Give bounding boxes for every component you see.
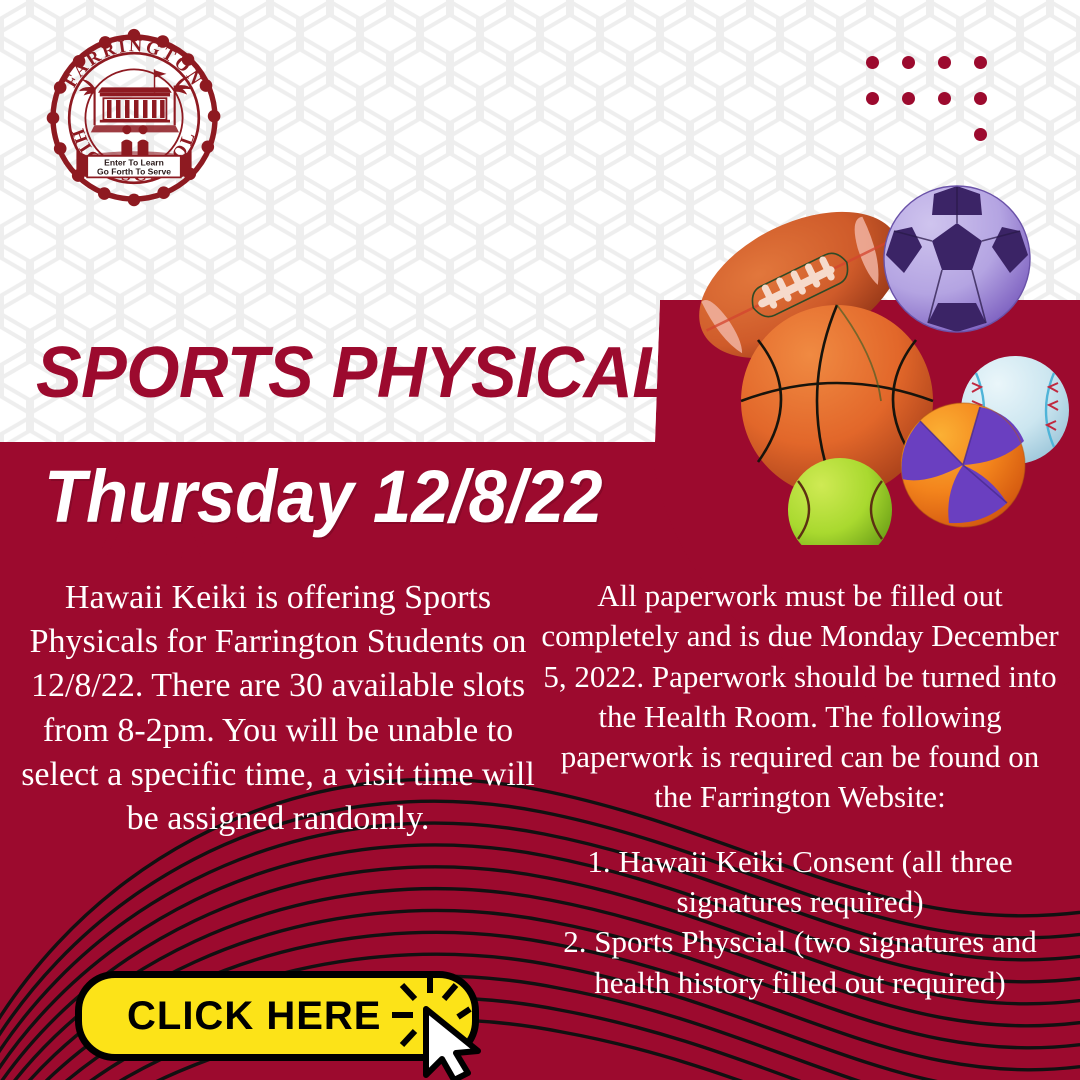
sports-balls-illustration <box>680 175 1080 545</box>
dot <box>902 92 915 105</box>
dot <box>866 92 879 105</box>
seal-arc-top-text: FARRINGTON <box>60 35 207 91</box>
dot <box>902 56 915 69</box>
soccer-ball-icon <box>884 186 1030 332</box>
left-paragraph: Hawaii Keiki is offering Sports Physical… <box>18 576 538 841</box>
dot <box>938 92 951 105</box>
requirement-item: 2. Sports Physcial (two signatures and h… <box>540 922 1060 1003</box>
right-column: All paperwork must be filled out complet… <box>540 576 1060 1003</box>
event-date: Thursday 12/8/22 <box>44 460 602 534</box>
farrington-high-school-seal-logo: FARRINGTON HIGH SCHOOL <box>44 28 224 208</box>
seal-motto-line2: Go Forth To Serve <box>97 167 171 177</box>
flyer-canvas: FARRINGTON HIGH SCHOOL <box>0 0 1080 1080</box>
click-here-button[interactable]: CLICK HERE <box>75 971 479 1061</box>
dot <box>974 56 987 69</box>
volleyball-icon <box>901 403 1025 527</box>
dot-grid-decor <box>866 56 1010 164</box>
dot <box>866 56 879 69</box>
dot <box>974 128 987 141</box>
right-paragraph: All paperwork must be filled out complet… <box>540 576 1060 818</box>
click-here-label: CLICK HERE <box>127 994 381 1039</box>
dot <box>974 92 987 105</box>
requirements-list: 1. Hawaii Keiki Consent (all three signa… <box>540 842 1060 1003</box>
headline-line-1: SPORTS PHYSICAL <box>36 333 674 414</box>
svg-text:FARRINGTON: FARRINGTON <box>60 35 207 91</box>
dot <box>938 56 951 69</box>
requirement-item: 1. Hawaii Keiki Consent (all three signa… <box>540 842 1060 923</box>
